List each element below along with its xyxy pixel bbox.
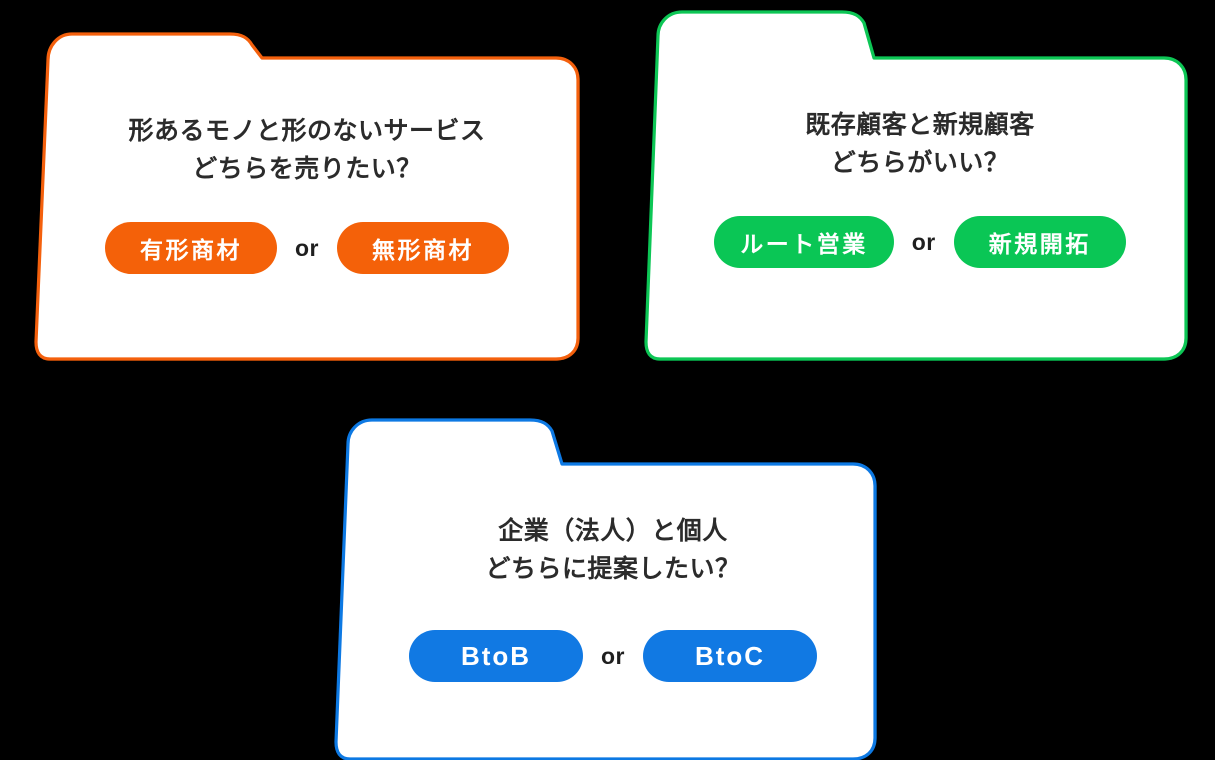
card-title-audience: 企業（法人）と個人どちらに提案したい？ <box>485 512 740 588</box>
choice-row-customer: ルート営業 or 新規開拓 <box>714 216 1126 268</box>
option-left-tangible[interactable]: 有形商材 <box>105 222 277 274</box>
card-content-tangible: 形あるモノと形のないサービスどちらを売りたい？ 有形商材 or 無形商材 <box>34 112 580 274</box>
or-label-audience: or <box>601 643 625 670</box>
or-label-tangible: or <box>295 235 319 262</box>
option-right-audience[interactable]: BtoC <box>643 630 817 682</box>
folder-card-tangible[interactable]: 形あるモノと形のないサービスどちらを売りたい？ 有形商材 or 無形商材 <box>34 14 580 360</box>
card-title-line1: 形あるモノと形のないサービス <box>128 117 485 145</box>
card-title-line2: どちらに提案したい？ <box>485 555 740 583</box>
page-canvas: 形あるモノと形のないサービスどちらを売りたい？ 有形商材 or 無形商材 既存顧… <box>0 0 1215 759</box>
card-content-audience: 企業（法人）と個人どちらに提案したい？ BtoB or BtoC <box>340 512 886 682</box>
choice-row-tangible: 有形商材 or 無形商材 <box>105 222 509 274</box>
card-title-customer: 既存顧客と新規顧客どちらがいい？ <box>805 106 1035 182</box>
option-left-audience[interactable]: BtoB <box>409 630 583 682</box>
option-right-tangible[interactable]: 無形商材 <box>337 222 509 274</box>
card-title-line2: どちらがいい？ <box>831 149 1010 177</box>
folder-card-audience[interactable]: 企業（法人）と個人どちらに提案したい？ BtoB or BtoC <box>340 410 886 760</box>
or-label-customer: or <box>912 229 936 256</box>
choice-row-audience: BtoB or BtoC <box>409 630 817 682</box>
card-content-customer: 既存顧客と新規顧客どちらがいい？ ルート営業 or 新規開拓 <box>650 106 1190 268</box>
card-title-line1: 企業（法人）と個人 <box>498 517 728 545</box>
option-left-customer[interactable]: ルート営業 <box>714 216 894 268</box>
card-title-line1: 既存顧客と新規顧客 <box>805 111 1035 139</box>
card-title-tangible: 形あるモノと形のないサービスどちらを売りたい？ <box>128 112 485 188</box>
card-title-line2: どちらを売りたい？ <box>192 155 422 183</box>
option-right-customer[interactable]: 新規開拓 <box>954 216 1126 268</box>
folder-card-customer[interactable]: 既存顧客と新規顧客どちらがいい？ ルート営業 or 新規開拓 <box>650 4 1190 360</box>
